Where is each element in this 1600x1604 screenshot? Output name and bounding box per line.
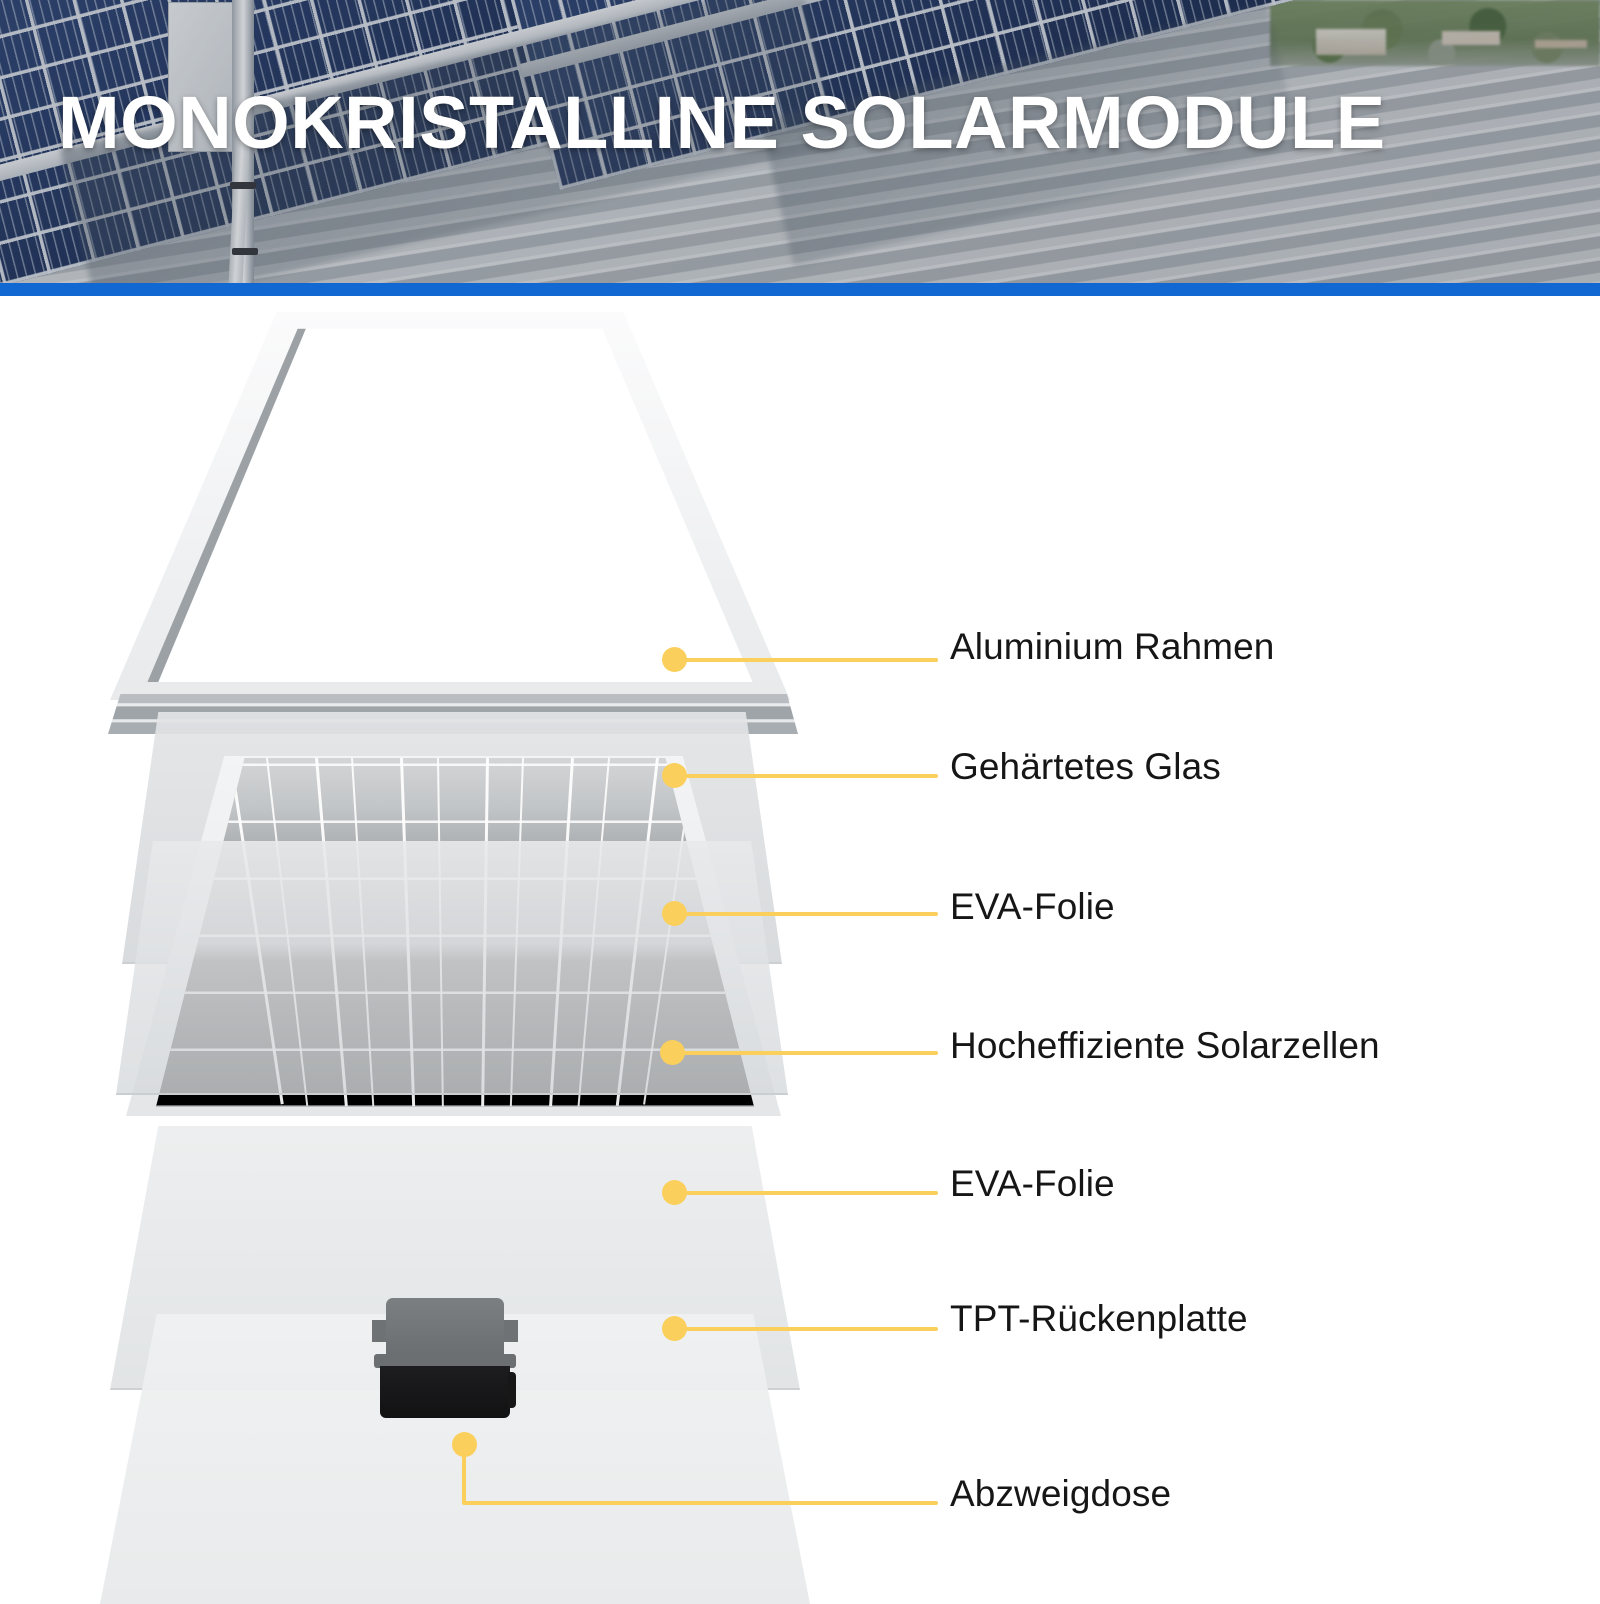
junction-box (370, 1298, 520, 1426)
accent-divider-bar (0, 283, 1600, 296)
junction-box-lid (386, 1298, 504, 1360)
hero-banner: MONOKRISTALLINE SOLARMODULE (0, 0, 1600, 283)
layer-aluminium-frame (110, 312, 790, 712)
infographic-page: MONOKRISTALLINE SOLARMODULE (0, 0, 1600, 1600)
junction-box-tab-right (502, 1320, 518, 1342)
layer-eva-film-top (116, 841, 788, 1095)
exploded-diagram (0, 296, 1600, 1600)
junction-box-body (380, 1366, 510, 1418)
page-title: MONOKRISTALLINE SOLARMODULE (58, 86, 1386, 160)
